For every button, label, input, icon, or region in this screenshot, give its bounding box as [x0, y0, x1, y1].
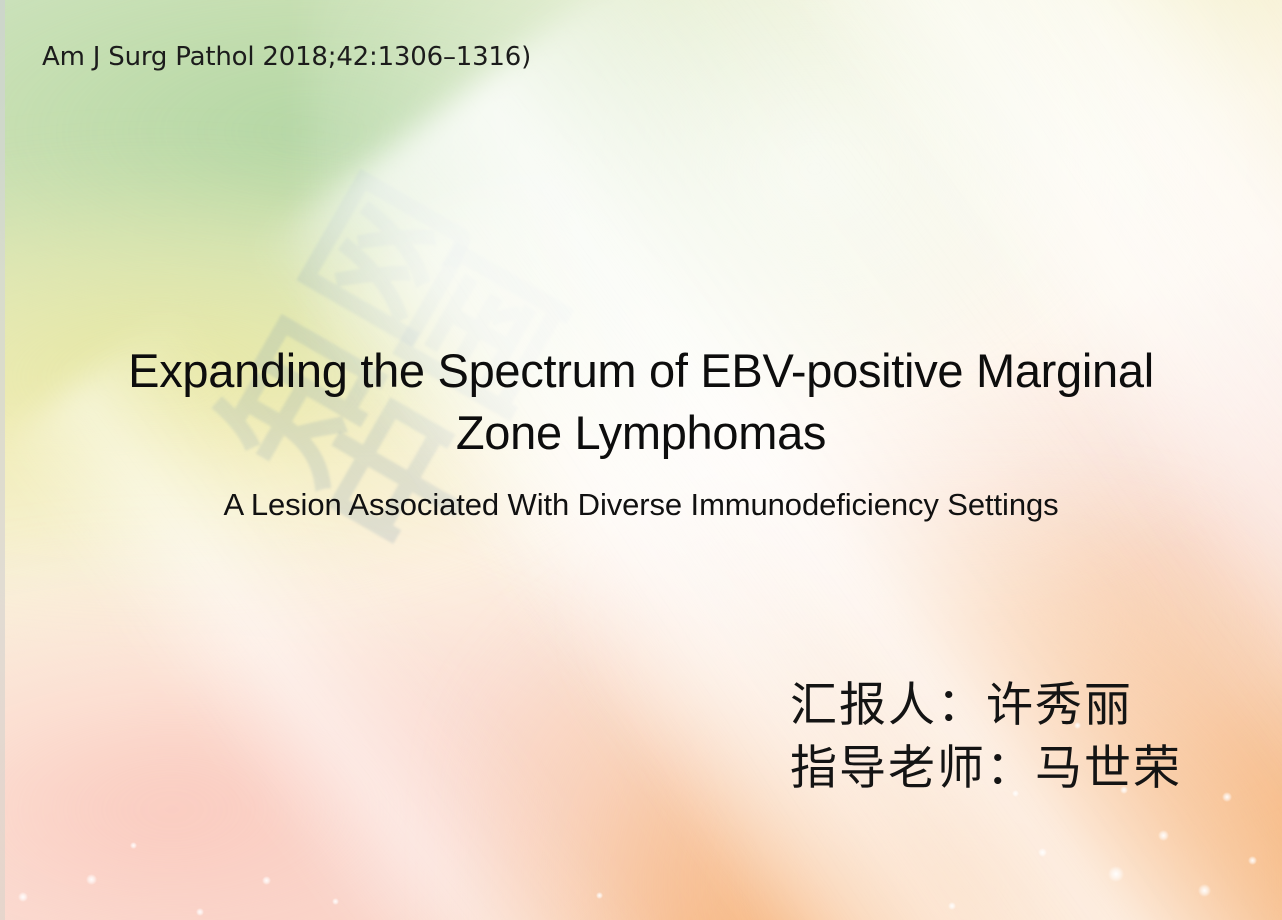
presenter-block: 汇报人：许秀丽 指导老师：马世荣 — [790, 675, 1182, 800]
title-block: Expanding the Spectrum of EBV-positive M… — [0, 340, 1282, 464]
presenter-name: 汇报人：许秀丽 — [790, 675, 1182, 738]
page-subtitle: A Lesion Associated With Diverse Immunod… — [0, 487, 1282, 523]
title-slide: 中国 知网 Am J Surg Pathol 2018;42:1306–1316… — [0, 0, 1282, 920]
page-title-line-1: Expanding the Spectrum of EBV-positive M… — [70, 340, 1212, 402]
page-title-line-2: Zone Lymphomas — [70, 402, 1212, 464]
supervisor-name: 指导老师：马世荣 — [790, 738, 1182, 801]
journal-citation: Am J Surg Pathol 2018;42:1306–1316) — [42, 42, 531, 72]
